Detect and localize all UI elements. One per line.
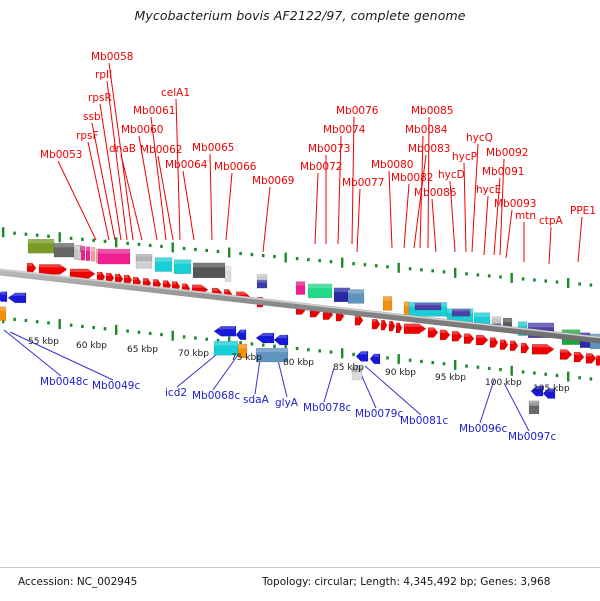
gene-label-mb0081c[interactable]: Mb0081c	[400, 415, 448, 427]
gene-label-ppe1[interactable]: PPE1	[570, 205, 596, 217]
gene-label-cela1[interactable]: celA1	[161, 87, 190, 99]
ruler-tick-label: 75 kbp	[231, 353, 262, 363]
forward-gene-arrows[interactable]	[27, 263, 600, 365]
ruler-tick-label: 80 kbp	[283, 358, 314, 368]
gene-label-mb0074[interactable]: Mb0074	[323, 124, 366, 136]
gene-label-mb0048c[interactable]: Mb0048c	[40, 376, 88, 388]
gene-label-ctpa[interactable]: ctpA	[539, 215, 564, 227]
gene-label-mb0065[interactable]: Mb0065	[192, 142, 234, 154]
gene-label-glya[interactable]: glyA	[275, 397, 299, 409]
gene-label-rpsf[interactable]: rpsF	[76, 130, 99, 142]
ruler-tick-label: 95 kbp	[435, 373, 466, 383]
gene-label-mb0073[interactable]: Mb0073	[308, 143, 350, 155]
gene-label-mb0091[interactable]: Mb0091	[482, 166, 524, 178]
genome-map-viewer: Mycobacterium bovis AF2122/97, complete …	[0, 0, 600, 600]
reverse-gene-labels[interactable]: Mb0048cMb0049cicd2Mb0068csdaAglyAMb0078c…	[40, 376, 556, 443]
gene-label-mb0096c[interactable]: Mb0096c	[459, 423, 507, 435]
gene-label-mb0082[interactable]: Mb0082	[391, 172, 433, 184]
topology-text: Topology: circular; Length: 4,345,492 bp…	[262, 576, 550, 588]
gene-label-icd2[interactable]: icd2	[165, 387, 187, 399]
gene-label-mb0078c[interactable]: Mb0078c	[303, 402, 351, 414]
gene-label-mb0049c[interactable]: Mb0049c	[92, 380, 140, 392]
gene-label-sdaa[interactable]: sdaA	[243, 394, 270, 406]
genome-map-canvas[interactable]: Mb0053rpsFssbrpsRrpIIMb0058dnaBMb0060Mb0…	[0, 0, 600, 600]
footer-bar: Accession: NC_002945 Topology: circular;…	[0, 567, 600, 601]
gene-label-dnab[interactable]: dnaB	[109, 143, 136, 155]
gene-label-mb0058[interactable]: Mb0058	[91, 51, 133, 63]
gene-label-rpii[interactable]: rpII	[95, 69, 112, 81]
gene-label-mtn[interactable]: mtn	[515, 210, 536, 222]
gene-label-hycq[interactable]: hycQ	[466, 132, 493, 144]
accession-text: Accession: NC_002945	[18, 576, 137, 588]
ruler-tick-label: 60 kbp	[76, 341, 107, 351]
gene-label-mb0068c[interactable]: Mb0068c	[192, 390, 240, 402]
gene-label-mb0060[interactable]: Mb0060	[121, 124, 163, 136]
gene-label-mb0085[interactable]: Mb0085	[411, 105, 453, 117]
gene-label-mb0072[interactable]: Mb0072	[300, 161, 342, 173]
gene-label-mb0092[interactable]: Mb0092	[486, 147, 528, 159]
gene-label-mb0069[interactable]: Mb0069	[252, 175, 294, 187]
gene-label-mb0084[interactable]: Mb0084	[405, 124, 448, 136]
gene-label-mb0076[interactable]: Mb0076	[336, 105, 379, 117]
ruler-tick-label: 105 kbp	[533, 384, 570, 394]
gene-label-mb0086[interactable]: Mb0086	[414, 187, 457, 199]
ruler-tick-label: 70 kbp	[178, 349, 209, 359]
gene-label-mb0080[interactable]: Mb0080	[371, 159, 413, 171]
gene-label-hyce[interactable]: hycE	[476, 184, 501, 196]
gene-label-mb0097c[interactable]: Mb0097c	[508, 431, 556, 443]
gene-label-rpsr[interactable]: rpsR	[88, 92, 112, 104]
gene-label-ssb[interactable]: ssb	[83, 111, 101, 123]
gene-label-mb0083[interactable]: Mb0083	[408, 143, 450, 155]
ruler-tick-label: 85 kbp	[333, 363, 364, 373]
genome-axis-line[interactable]	[0, 270, 600, 341]
ruler-tick-label: 65 kbp	[127, 345, 158, 355]
ruler-tick-label: 100 kbp	[485, 378, 522, 388]
gene-label-mb0053[interactable]: Mb0053	[40, 149, 82, 161]
gene-label-mb0066[interactable]: Mb0066	[214, 161, 257, 173]
ruler-tick-label: 90 kbp	[385, 368, 416, 378]
gene-label-mb0062[interactable]: Mb0062	[140, 144, 182, 156]
ruler-tick-label: 55 kbp	[28, 337, 59, 347]
gene-label-hycd[interactable]: hycD	[438, 169, 465, 181]
gene-label-mb0077[interactable]: Mb0077	[342, 177, 384, 189]
gene-label-mb0061[interactable]: Mb0061	[133, 105, 175, 117]
gene-label-mb0064[interactable]: Mb0064	[165, 159, 208, 171]
gene-label-mb0079c[interactable]: Mb0079c	[355, 408, 403, 420]
forward-gene-labels[interactable]: Mb0053rpsFssbrpsRrpIIMb0058dnaBMb0060Mb0…	[40, 51, 596, 227]
gene-label-mb0093[interactable]: Mb0093	[494, 198, 536, 210]
gene-label-hycp[interactable]: hycP	[452, 151, 477, 163]
